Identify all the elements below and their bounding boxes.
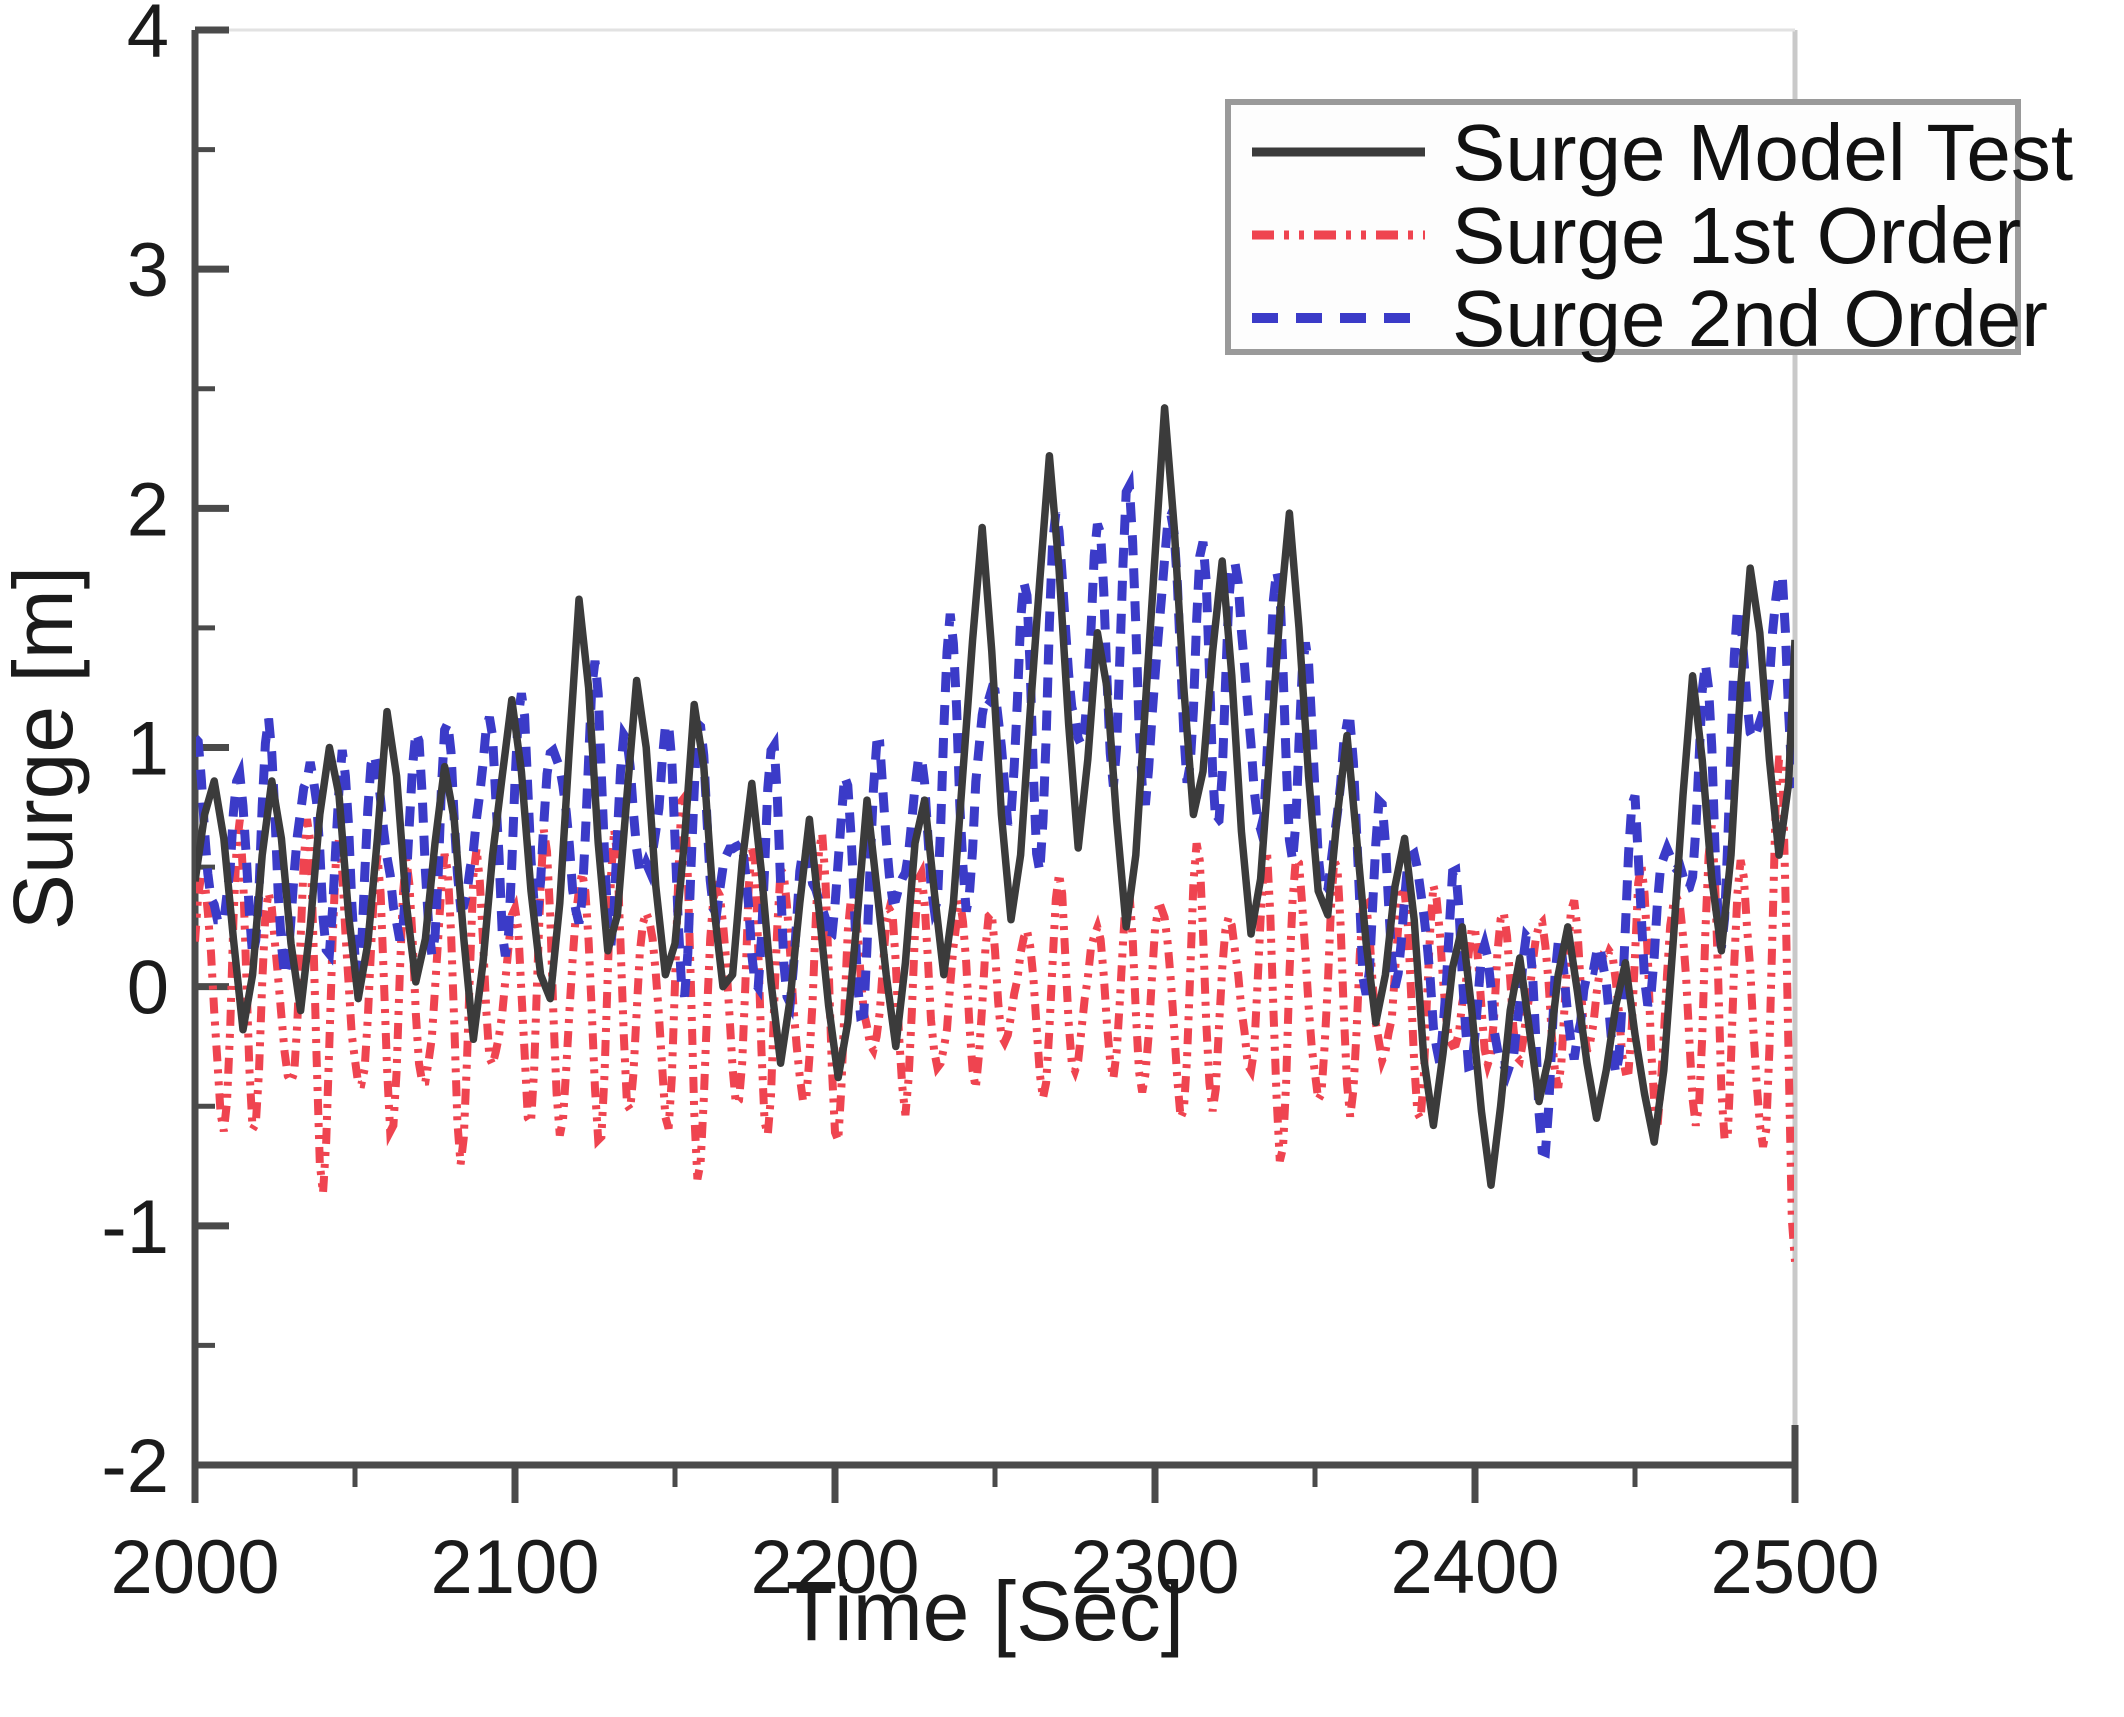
surge-time-series-chart: -2-101234 200021002200230024002500 Time … [0,0,2124,1717]
legend-label-0: Surge Model Test [1452,108,2073,197]
y-tick-label: 0 [127,946,169,1031]
y-axis-title: Surge [m] [0,566,90,930]
legend-label-2: Surge 2nd Order [1452,274,2048,363]
y-tick-label: 1 [127,707,169,792]
y-tick-label: 4 [127,0,169,74]
legend-label-1: Surge 1st Order [1452,191,2021,280]
chart-figure: -2-101234 200021002200230024002500 Time … [0,0,2124,1717]
y-tick-label: 2 [127,467,169,552]
x-tick-label: 2400 [1390,1525,1559,1610]
x-axis-title: Time [Sec] [786,1564,1184,1658]
legend[interactable]: Surge Model Test Surge 1st Order Surge 2… [1228,102,2073,363]
y-tick-label: 3 [127,228,169,313]
x-tick-label: 2000 [110,1525,279,1610]
x-tick-label: 2100 [430,1525,599,1610]
y-tick-label: -1 [101,1185,169,1270]
y-tick-label: -2 [101,1424,169,1509]
x-tick-label: 2500 [1710,1525,1879,1610]
